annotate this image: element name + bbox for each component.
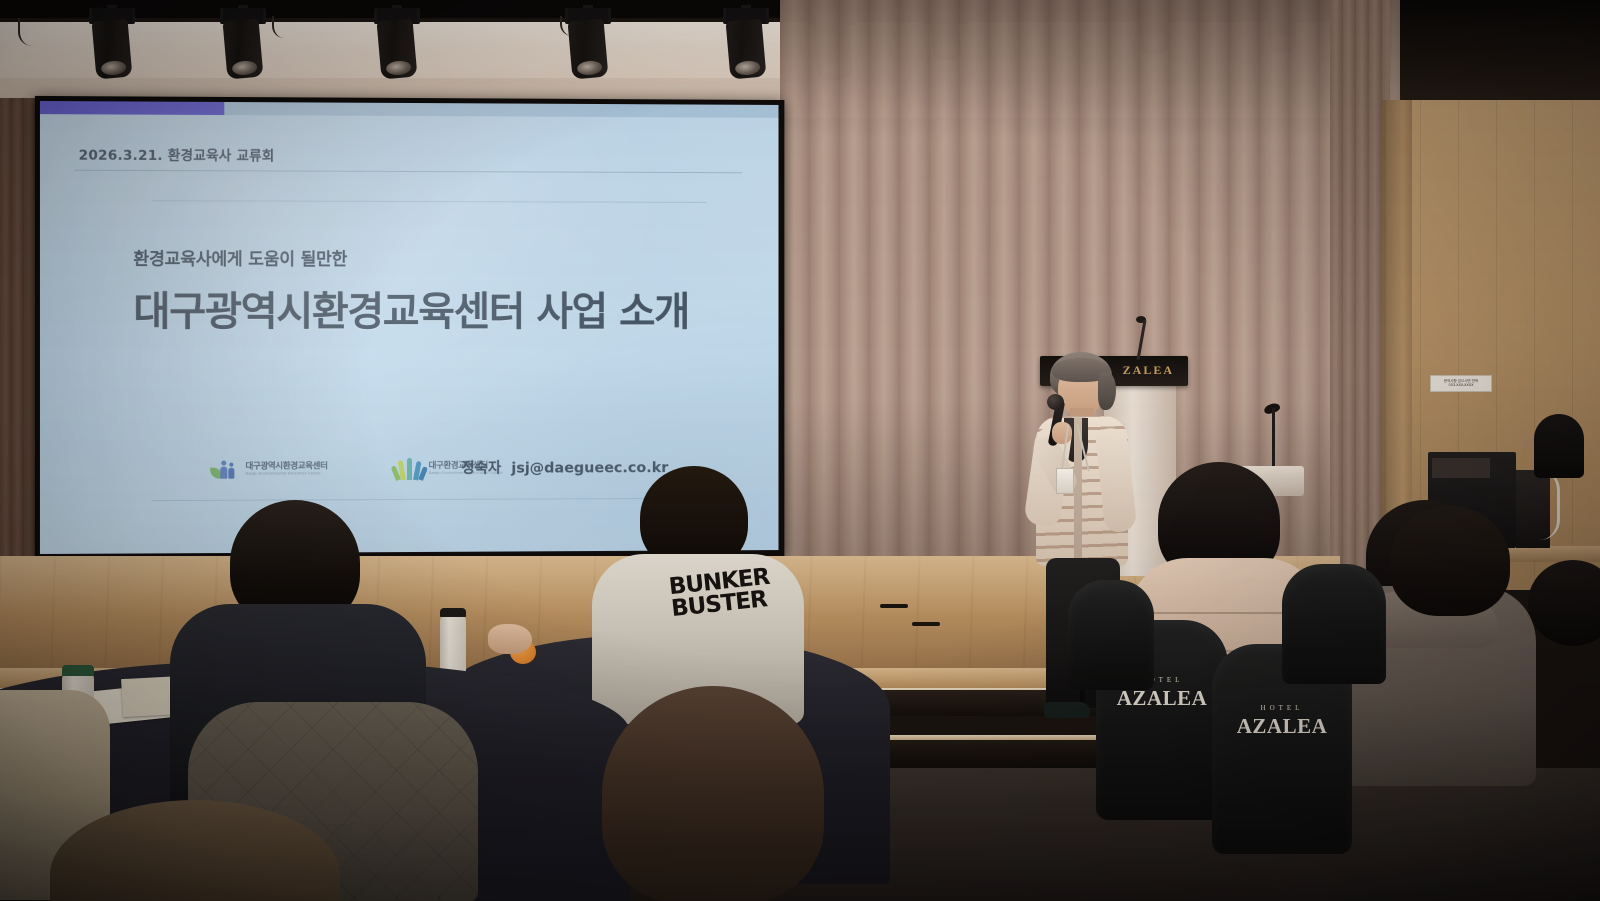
audience-head [50, 800, 340, 901]
slide-title: 대구광역시환경교육센터 사업 소개 [133, 279, 689, 337]
slide-subtitle: 환경교육사에게 도움이 될만한 [133, 244, 347, 269]
chair [1282, 564, 1386, 684]
people-leaf-icon [210, 459, 240, 481]
slide-logo-row: 대구광역시환경교육센터 Daegu Environmental Educatio… [210, 458, 503, 481]
audience-head [1390, 506, 1510, 616]
grass-fan-icon [394, 458, 424, 480]
slide-kicker-text: 2026.3.21. 환경교육사 교류회 [79, 144, 275, 165]
stage-floor-hatch [880, 604, 908, 608]
av-equipment-top [1432, 458, 1490, 478]
presenter-name: 정숙자 [461, 461, 501, 477]
hoodie-graphic: BUNKER BUSTER [668, 567, 773, 621]
water-bottle [440, 614, 466, 676]
av-cable [1540, 470, 1560, 540]
chair-brand-logo: HOTEL AZALEA [1237, 704, 1328, 739]
logo-daegu-metro-eec: 대구광역시환경교육센터 Daegu Environmental Educatio… [210, 458, 327, 480]
tumbler-lid [62, 665, 94, 676]
audience-member-front [556, 686, 846, 901]
name-badge [1056, 468, 1074, 494]
logo-label-en: Daegu Environmental Education Center [245, 473, 327, 477]
slide-accent-bar-track [224, 102, 778, 118]
presentation-photo: 문의사항 있으시면 연락 053-XXX-XXXX 2026.3.21. 환경교… [0, 0, 1600, 901]
slide-accent-bar [40, 101, 224, 115]
audience-member-front [1372, 506, 1522, 706]
handheld-microphone-icon [1047, 394, 1064, 410]
speaker-cabinet [1534, 414, 1584, 478]
audience-hand [488, 624, 532, 654]
chair [1068, 580, 1154, 690]
water-bottle-cap [440, 608, 466, 617]
presenter-hair-side [1098, 372, 1116, 410]
chair-brand-main: AZALEA [1237, 714, 1328, 739]
chair-brand-top: HOTEL [1237, 704, 1328, 712]
audience-head [602, 686, 824, 901]
wall-notice-sign: 문의사항 있으시면 연락 053-XXX-XXXX [1430, 375, 1492, 392]
wall-sign-line2: 053-XXX-XXXX [1449, 384, 1474, 388]
stage-floor-hatch [912, 622, 940, 626]
audience-member-front [50, 800, 350, 901]
slide-divider-top [75, 170, 743, 174]
presenter-shoe [1044, 702, 1090, 718]
logo-label-kr: 대구광역시환경교육센터 [245, 462, 327, 471]
slide-divider-mid [152, 200, 707, 203]
